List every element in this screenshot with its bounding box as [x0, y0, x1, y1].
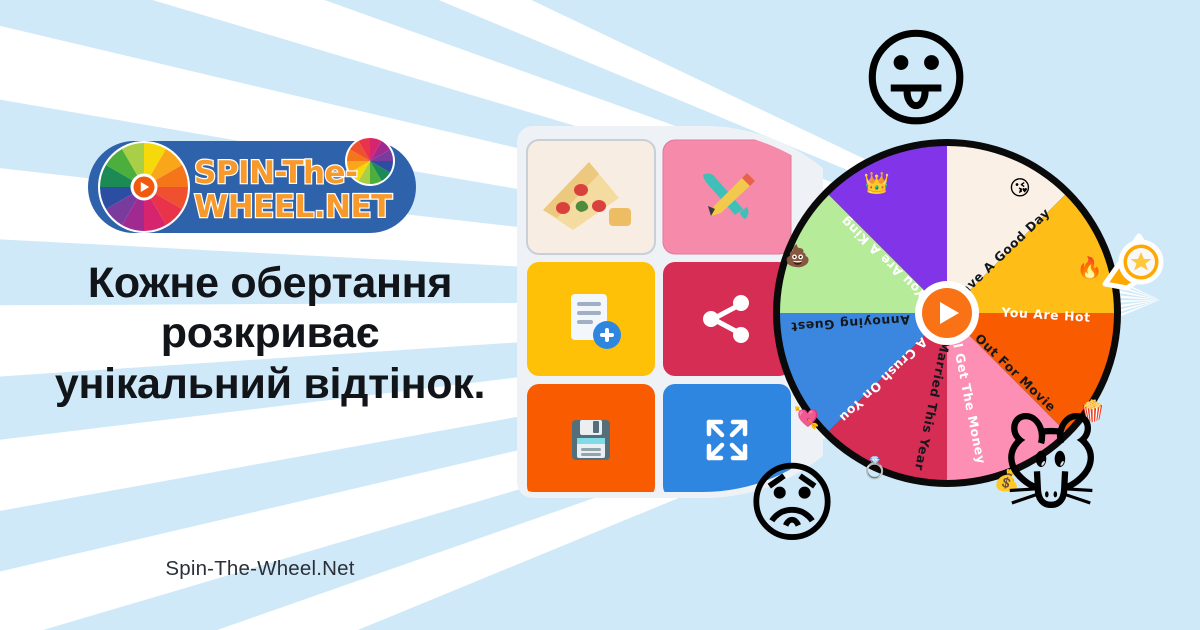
brand-name-line2: WHEEL.NET	[194, 189, 392, 225]
page-title: Кожне обертання розкриває унікальний від…	[20, 258, 520, 409]
left-content-column: SPIN-The- WHEEL.NET Кожне обертання розк…	[0, 0, 520, 630]
spin-button[interactable]	[915, 281, 979, 345]
headline-line-1: Кожне обертання	[20, 258, 520, 308]
brand-logo[interactable]: SPIN-The- WHEEL.NET	[82, 133, 422, 237]
food-tile[interactable]	[527, 140, 655, 254]
ring-emoji: 💍	[862, 455, 888, 481]
floppy-save-icon	[572, 420, 610, 460]
headline-line-2: розкриває	[20, 308, 520, 358]
brand-name-line1: SPIN-The-	[194, 155, 357, 191]
mouse-emoji: 🐭	[1001, 412, 1101, 524]
tongue-out-emoji: 😛	[860, 28, 973, 143]
worried-face-emoji: 😟	[746, 452, 838, 549]
heart-arrow-emoji: 💘	[794, 405, 820, 430]
headline-line-3: унікальний відтінок.	[20, 359, 520, 409]
new-list-tile[interactable]	[527, 262, 655, 376]
crown-emoji: 👑	[864, 171, 890, 195]
rainbow-wheel-icon	[98, 141, 190, 233]
star-pointer-icon	[1105, 236, 1161, 288]
kissing-heart-emoji: 😘	[1009, 176, 1031, 200]
prize-wheel[interactable]: Have A Good Day You Are Hot Go Out For M…	[735, 28, 1200, 548]
footer-url: Spin-The-Wheel.Net	[20, 557, 500, 581]
poop-emoji: 💩	[785, 243, 811, 268]
fire-emoji: 🔥	[1077, 255, 1103, 280]
save-tile[interactable]	[527, 384, 655, 498]
